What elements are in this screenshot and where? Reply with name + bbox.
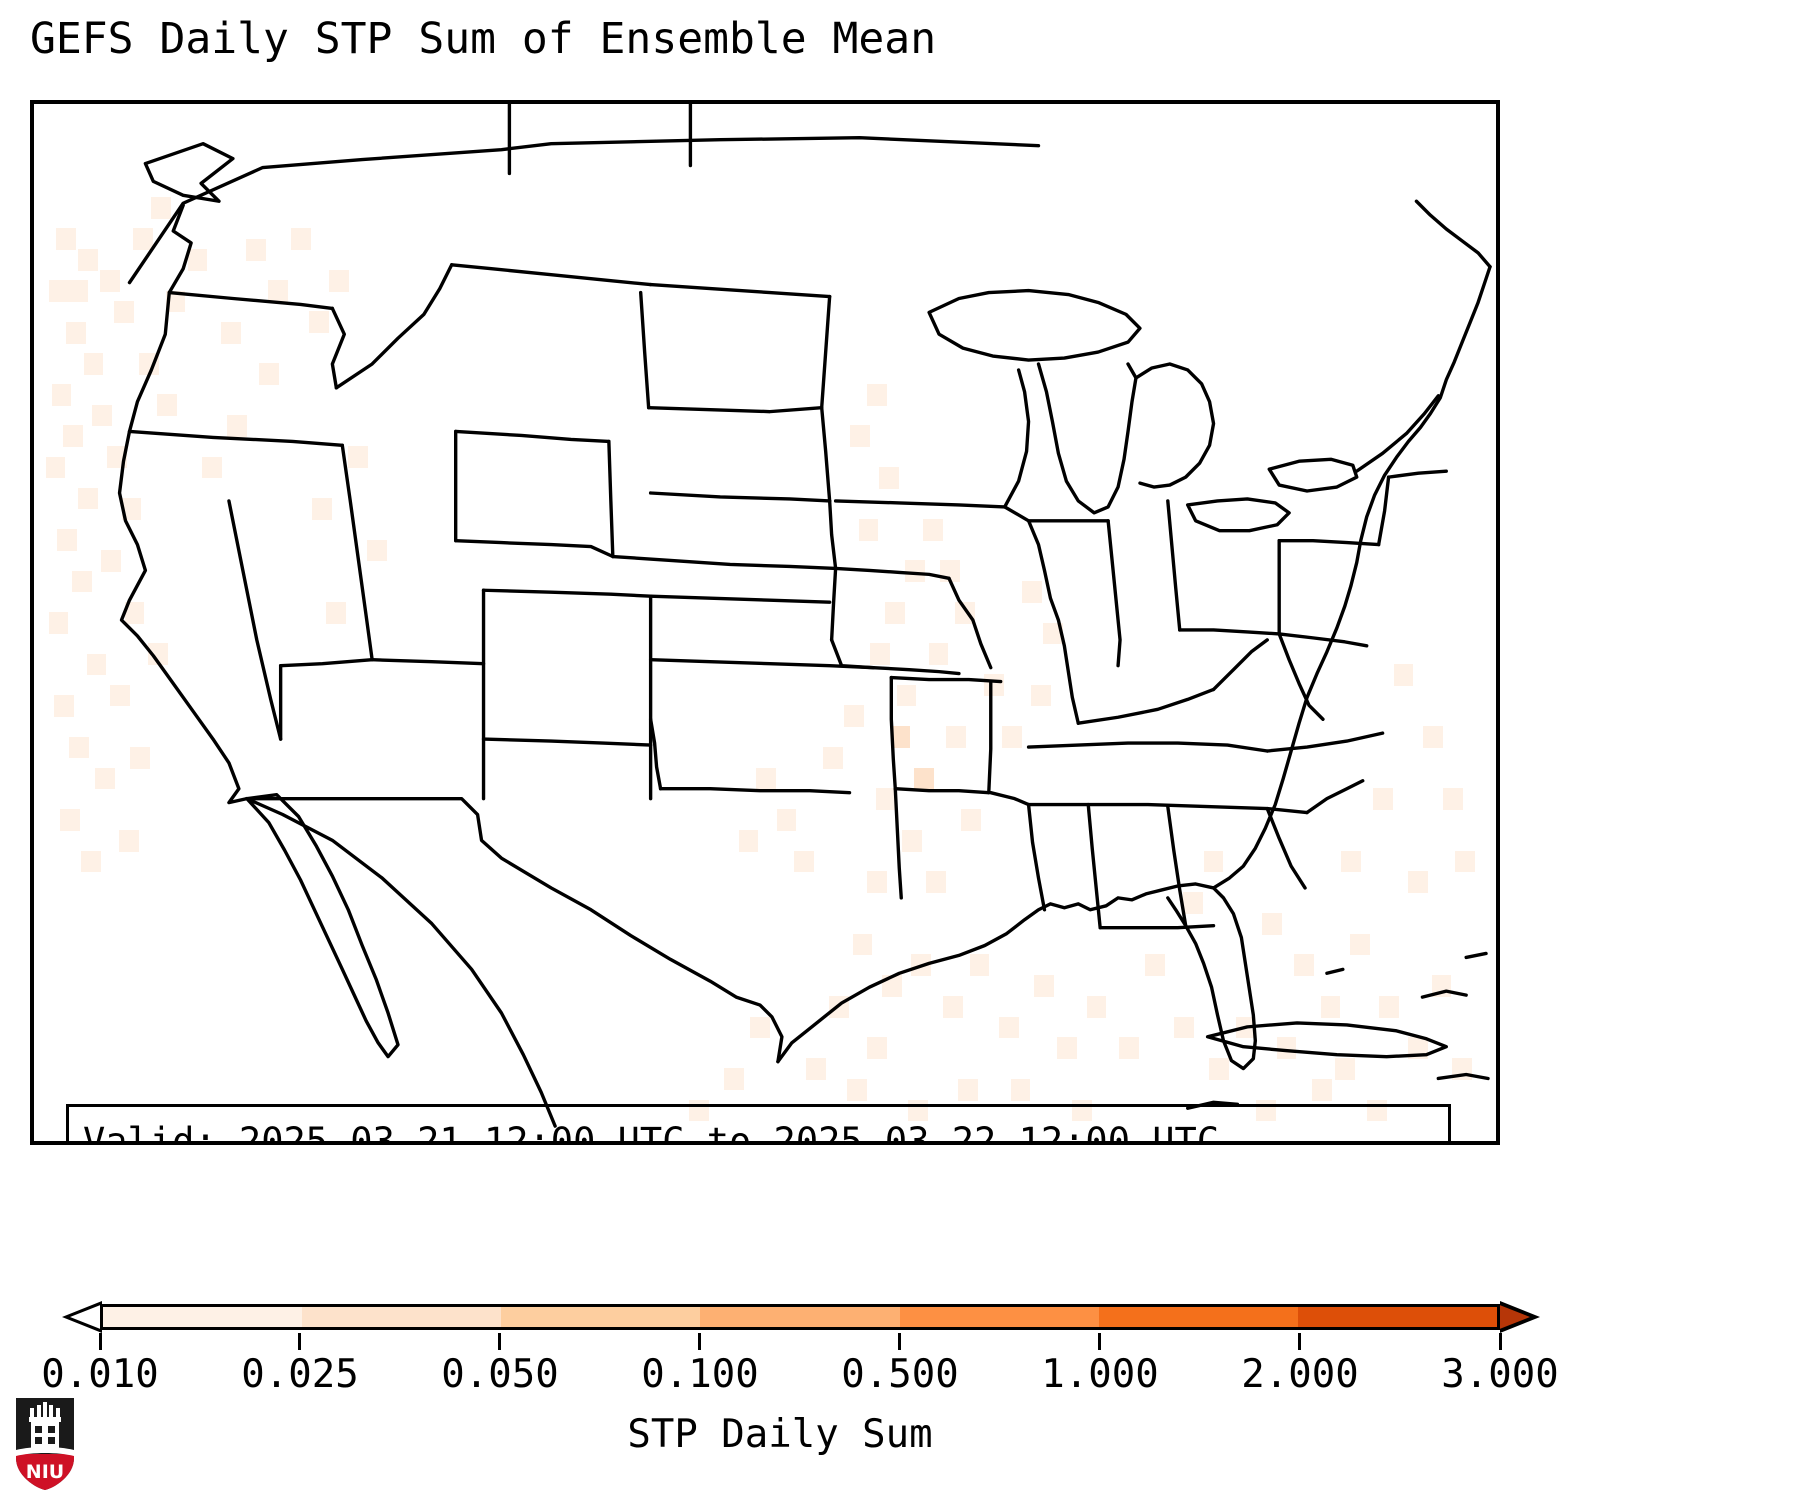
colorbar-tick-label-4: 0.500 xyxy=(841,1352,958,1397)
colorbar-segment-3 xyxy=(700,1307,899,1327)
niu-logo: NIU xyxy=(14,1396,76,1492)
colorbar-tick-label-7: 3.000 xyxy=(1441,1352,1558,1397)
colorbar-tick-0 xyxy=(99,1333,102,1350)
colorbar-tick-1 xyxy=(298,1333,301,1350)
colorbar-tick-label-0: 0.010 xyxy=(41,1352,158,1397)
colorbar-tick-3 xyxy=(698,1333,701,1350)
colorbar-segment-5 xyxy=(1099,1307,1298,1327)
colorbar-axis-label: STP Daily Sum xyxy=(0,1412,1560,1457)
colorbar-over-fill xyxy=(1497,1304,1530,1330)
colorbar-under-fill xyxy=(70,1304,103,1330)
colorbar-segment-6 xyxy=(1298,1307,1497,1327)
colorbar-segment-0 xyxy=(103,1307,302,1327)
colorbar[interactable] xyxy=(0,1296,1803,1356)
colorbar-tick-5 xyxy=(1098,1333,1101,1350)
valid-line: Valid: 2025-03-21 12:00 UTC to 2025-03-2… xyxy=(83,1117,1434,1145)
colorbar-tick-label-5: 1.000 xyxy=(1041,1352,1158,1397)
colorbar-tick-4 xyxy=(898,1333,901,1350)
niu-logo-text: NIU xyxy=(26,1461,64,1483)
colorbar-segment-4 xyxy=(900,1307,1099,1327)
colorbar-tick-2 xyxy=(498,1333,501,1350)
colorbar-tick-label-1: 0.025 xyxy=(241,1352,358,1397)
map-panel[interactable]: Valid: 2025-03-21 12:00 UTC to 2025-03-2… xyxy=(30,100,1500,1145)
info-box: Valid: 2025-03-21 12:00 UTC to 2025-03-2… xyxy=(66,1104,1451,1145)
colorbar-gradient xyxy=(100,1304,1500,1330)
colorbar-tick-7 xyxy=(1499,1333,1502,1350)
map-outlines xyxy=(34,104,1496,1141)
colorbar-tick-label-2: 0.050 xyxy=(441,1352,558,1397)
colorbar-segment-1 xyxy=(302,1307,501,1327)
colorbar-tick-label-6: 2.000 xyxy=(1241,1352,1358,1397)
page-title: GEFS Daily STP Sum of Ensemble Mean xyxy=(30,18,936,61)
colorbar-tick-6 xyxy=(1298,1333,1301,1350)
colorbar-segment-2 xyxy=(501,1307,700,1327)
colorbar-tick-label-3: 0.100 xyxy=(641,1352,758,1397)
